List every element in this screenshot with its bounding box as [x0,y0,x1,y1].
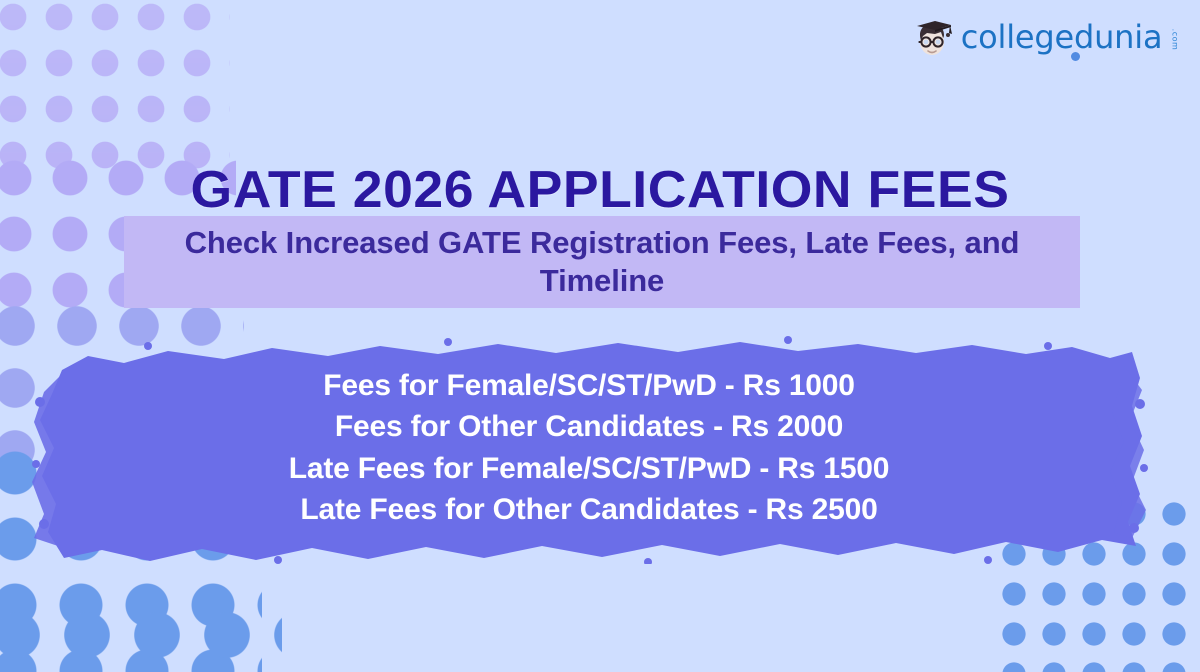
subtitle-text: Check Increased GATE Registration Fees, … [124,224,1080,300]
fees-banner: Fees for Female/SC/ST/PwD - Rs 1000 Fees… [28,332,1150,564]
fee-line: Late Fees for Other Candidates - Rs 2500 [300,491,877,529]
subtitle-band: Check Increased GATE Registration Fees, … [124,216,1080,308]
logo-wordmark: collegedunia [961,21,1163,53]
collegedunia-logo[interactable]: collegedunia .com [911,14,1186,60]
graduate-student-avatar-icon [911,15,955,59]
logo-tld-label: .com [1171,28,1180,50]
fees-list: Fees for Female/SC/ST/PwD - Rs 1000 Fees… [28,332,1150,564]
dot-pattern-top-left-small [0,0,230,174]
fee-line: Late Fees for Female/SC/ST/PwD - Rs 1500 [289,450,890,488]
page-title: GATE 2026 APPLICATION FEES [0,163,1200,218]
fee-line: Fees for Other Candidates - Rs 2000 [335,408,843,446]
poster-canvas: collegedunia .com GATE 2026 APPLICATION … [0,0,1200,672]
dot-pattern-bottom-left-strip [0,600,282,672]
fee-line: Fees for Female/SC/ST/PwD - Rs 1000 [323,367,855,405]
